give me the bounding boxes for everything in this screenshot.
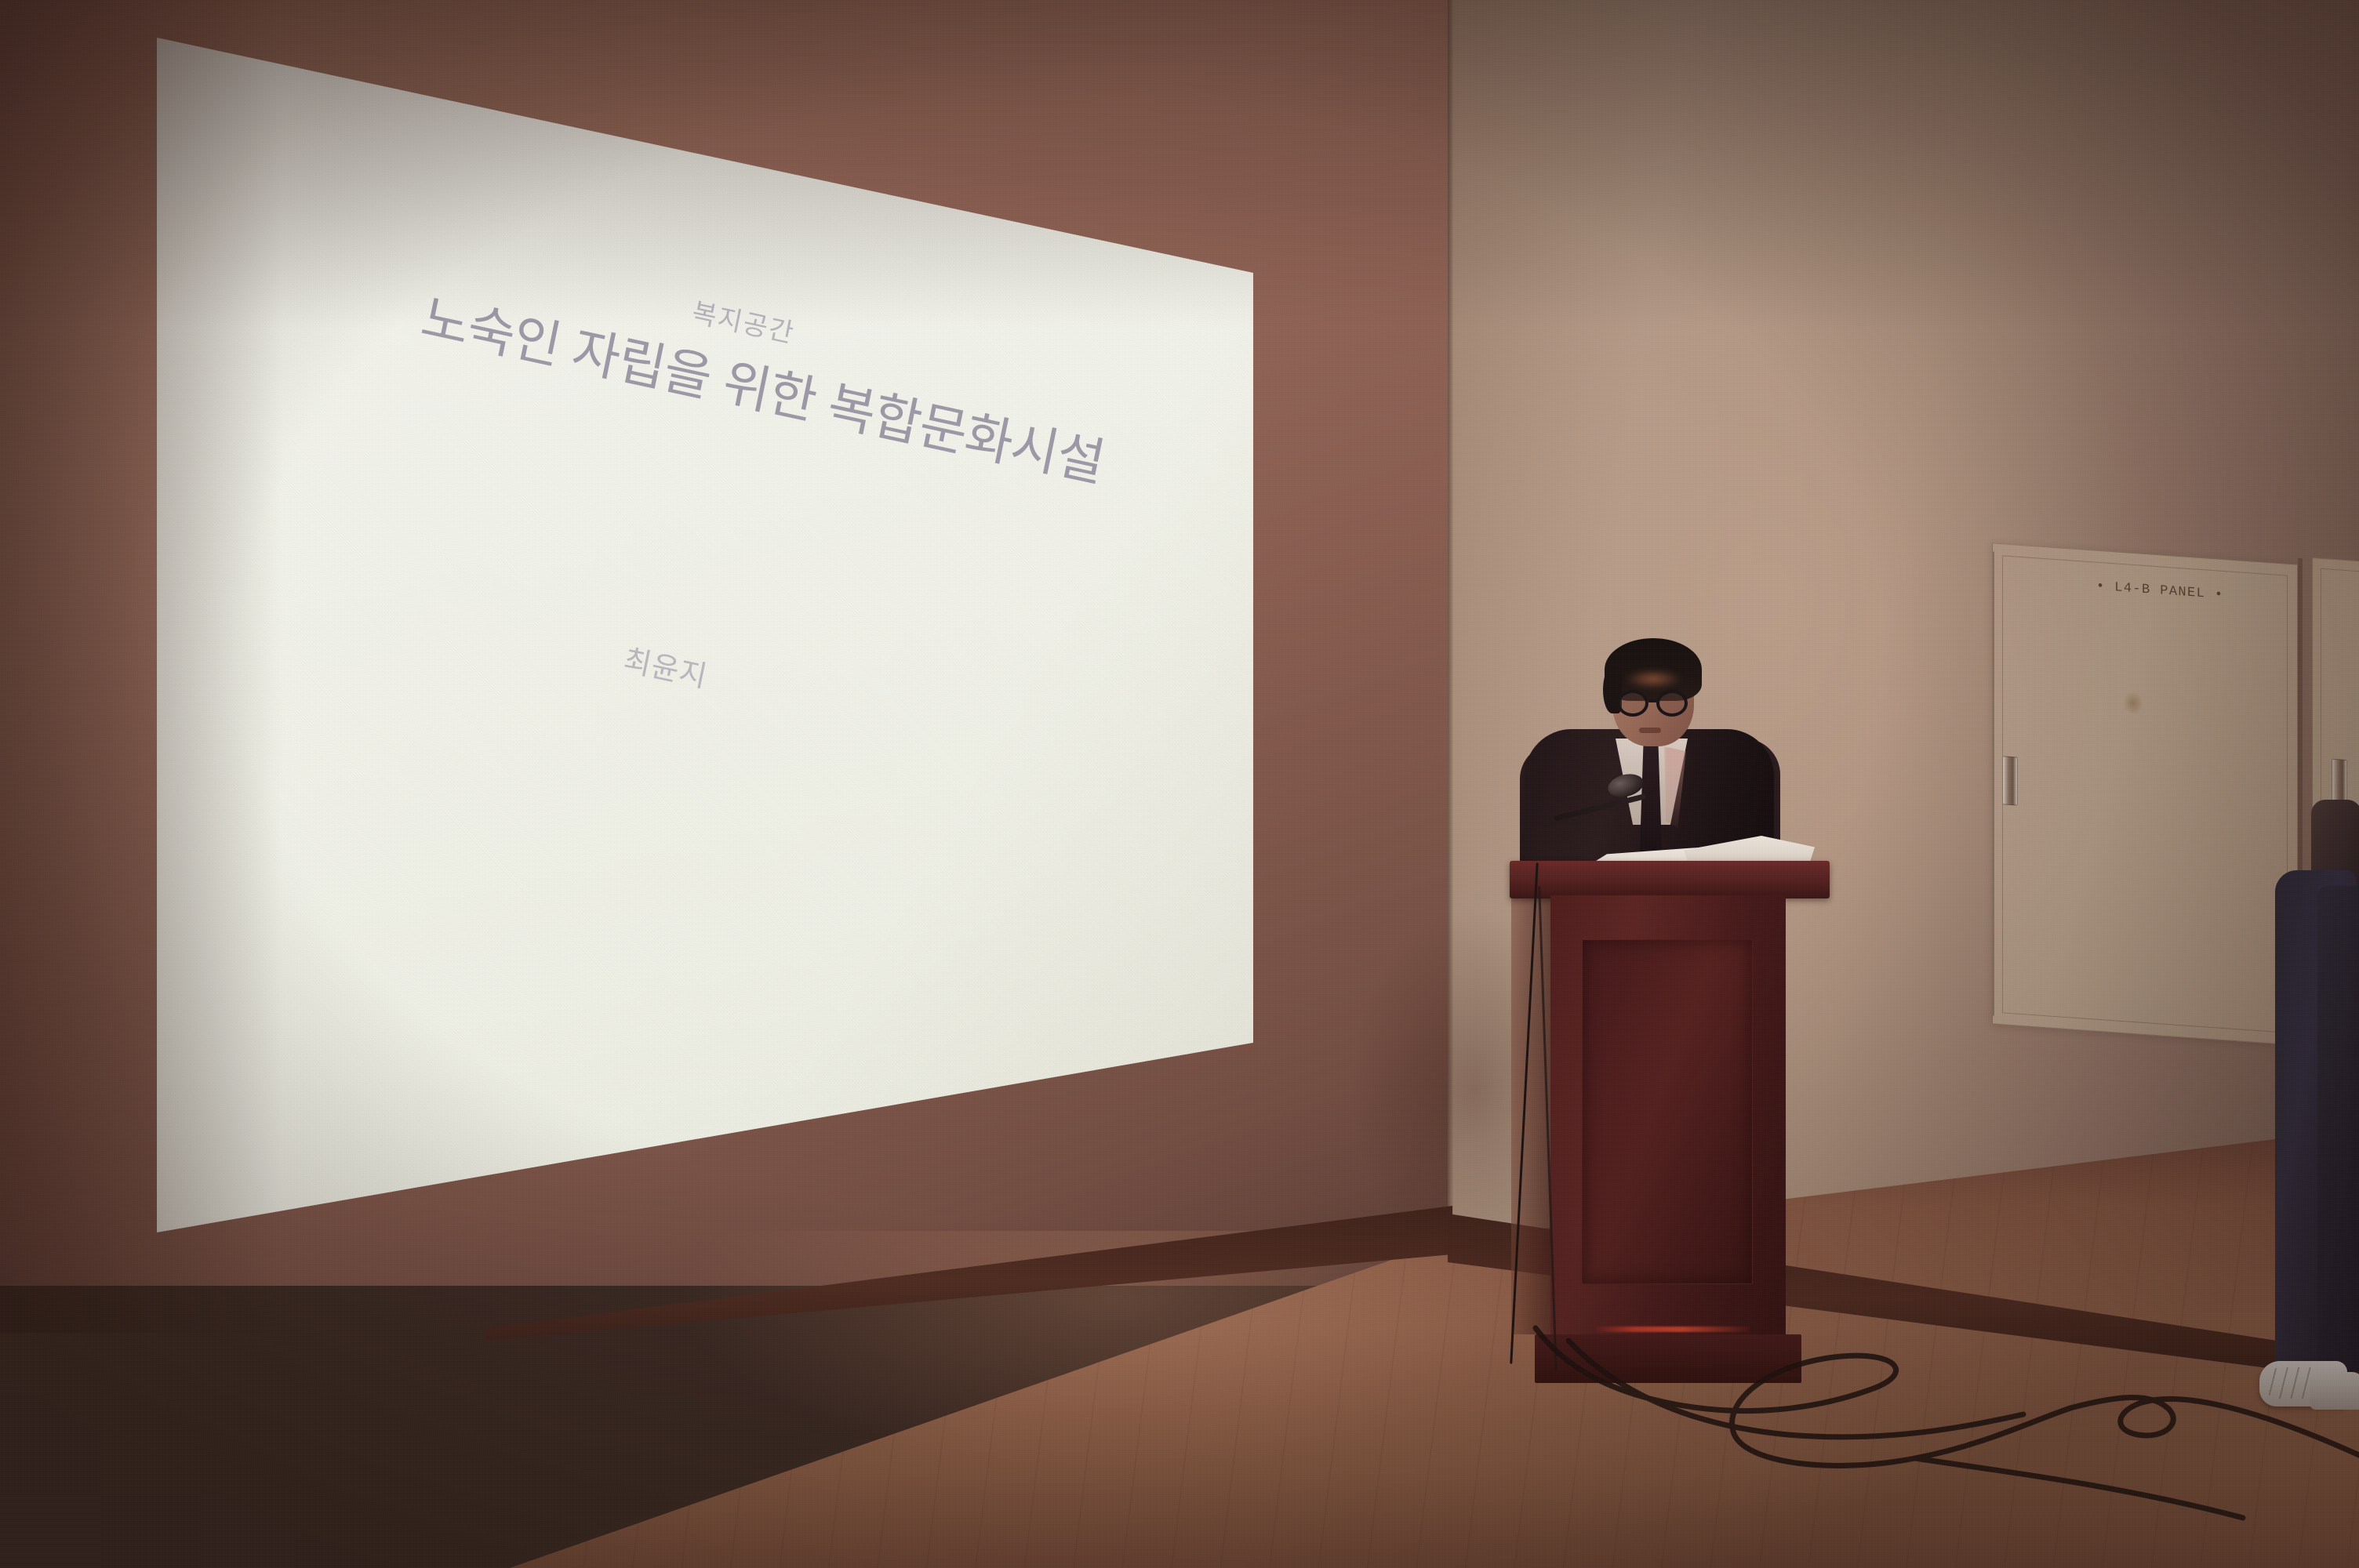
speaker-mouth — [1639, 728, 1661, 733]
electrical-panel-main[interactable]: • L4-B PANEL • — [1992, 543, 2298, 1045]
podium — [1533, 861, 1806, 1386]
podium-base — [1535, 1334, 1801, 1383]
podium-recessed-panel — [1582, 939, 1753, 1284]
projection-area: 복지공간 노숙인 자립을 위한 복합문화시설 최윤지 — [0, 0, 1333, 1294]
glasses-icon — [1608, 690, 1700, 717]
bystander-shoe-right — [2310, 1372, 2359, 1410]
bystander-leg-right — [2317, 886, 2359, 1372]
speaker-forehead-highlight — [1625, 670, 1681, 688]
bystander-person — [2263, 870, 2359, 1450]
glasses-lens-right — [1656, 690, 1688, 717]
latch-icon[interactable] — [2002, 756, 2018, 805]
speaker — [1520, 612, 1779, 878]
panel-inner-frame — [2002, 555, 2288, 1033]
glasses-lens-left — [1617, 690, 1648, 717]
wall-corner-seam — [1448, 0, 1453, 1286]
panel-door-seam — [1993, 551, 1994, 1015]
podium-accent-line — [1596, 1327, 1750, 1332]
podium-top-surface — [1510, 861, 1830, 898]
glasses-bridge — [1648, 699, 1658, 702]
presentation-scene: 복지공간 노숙인 자립을 위한 복합문화시설 최윤지 • L4-B PANEL … — [0, 0, 2359, 1568]
